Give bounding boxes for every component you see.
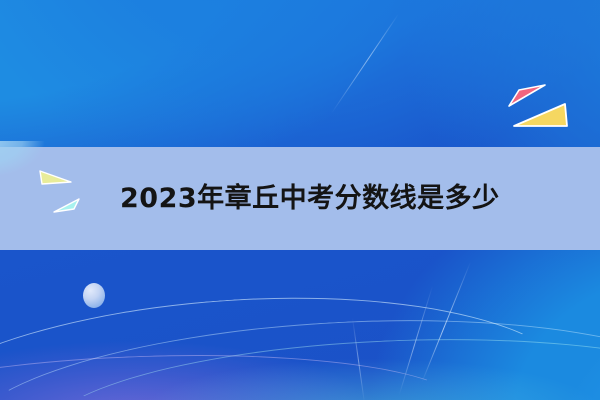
page-title: 2023年章丘中考分数线是多少: [0, 185, 500, 212]
light-streak-curve-2: [0, 302, 600, 400]
gradient-sphere-icon: [83, 283, 105, 308]
light-ray-2: [421, 262, 471, 383]
banner-image: 2023年章丘中考分数线是多少: [0, 0, 600, 400]
light-streak-curve-4: [0, 345, 464, 400]
yellow-triangle-icon: [510, 100, 570, 130]
light-ray-1: [331, 14, 399, 114]
light-streak-curve-3: [37, 327, 600, 400]
light-ray-3: [399, 286, 433, 395]
light-ray-4: [352, 318, 365, 400]
title-band: 2023年章丘中考分数线是多少: [0, 147, 600, 250]
